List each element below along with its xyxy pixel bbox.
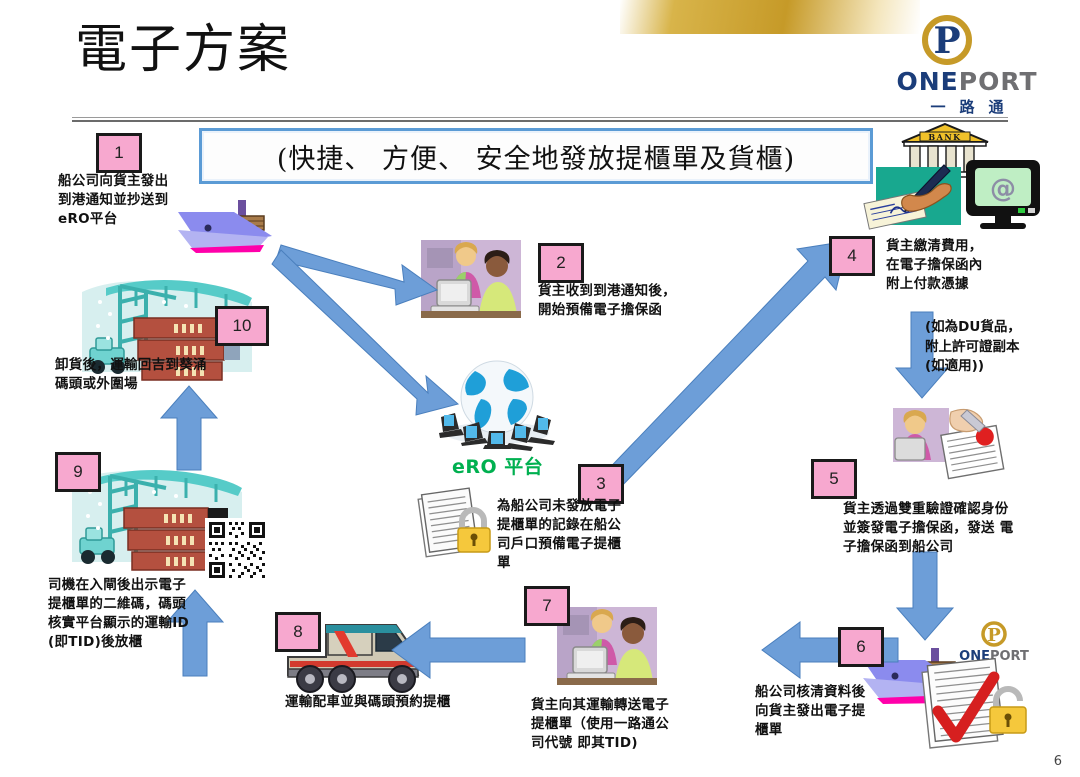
step-chip-10[interactable]: 10: [215, 306, 269, 346]
step-chip-8[interactable]: 8: [275, 612, 321, 652]
step-chip-9[interactable]: 9: [55, 452, 101, 492]
step-caption-3: 為船公司未發放電子 提櫃單的記錄在船公 司戶口預備電子提櫃 單: [497, 497, 621, 574]
step-caption-5: 貨主透過雙重驗證確認身份 並簽發電子擔保函，發送 電 子擔保函到船公司: [843, 500, 1014, 557]
slide-canvas: 電子方案 P ONEPORT 一路通 (快捷、 方便、 安全地發放提櫃單及貨櫃): [0, 0, 1080, 777]
step-caption-10: 卸貨後，運輸回吉到葵涌 碼頭或外圍場: [55, 356, 207, 394]
step-chip-4[interactable]: 4: [829, 236, 875, 276]
page-number: 6: [1054, 754, 1062, 769]
step-caption-9: 司機在入閘後出示電子 提櫃單的二維碼，碼頭 核實平台顯示的運輸ID (即TID)…: [48, 576, 189, 653]
step-caption-1: 船公司向貨主發出 到港通知並抄送到 eRO平台: [58, 172, 168, 229]
ero-platform-label: eRO 平台: [452, 452, 543, 479]
step-caption-6: 船公司核清資料後 向貨主發出電子提 櫃單: [755, 683, 865, 740]
step-caption-4: 貨主繳清費用， 在電子擔保函內 附上付款憑據: [886, 237, 983, 294]
du-goods-note: (如為DU貨品， 附上許可證副本 (如適用)): [925, 318, 1021, 377]
step-chip-1[interactable]: 1: [96, 133, 142, 173]
step-caption-2: 貨主收到到港通知後， 開始預備電子擔保函: [538, 282, 676, 320]
step-caption-7: 貨主向其運輸轉送電子 提櫃單（使用一路通公 司代號 即其TID): [531, 696, 669, 753]
step-chip-5[interactable]: 5: [811, 459, 857, 499]
step-chip-6[interactable]: 6: [838, 627, 884, 667]
step-caption-8: 運輸配車並與碼頭預約提櫃: [285, 693, 451, 712]
step-chip-2[interactable]: 2: [538, 243, 584, 283]
step-chip-7[interactable]: 7: [524, 586, 570, 626]
